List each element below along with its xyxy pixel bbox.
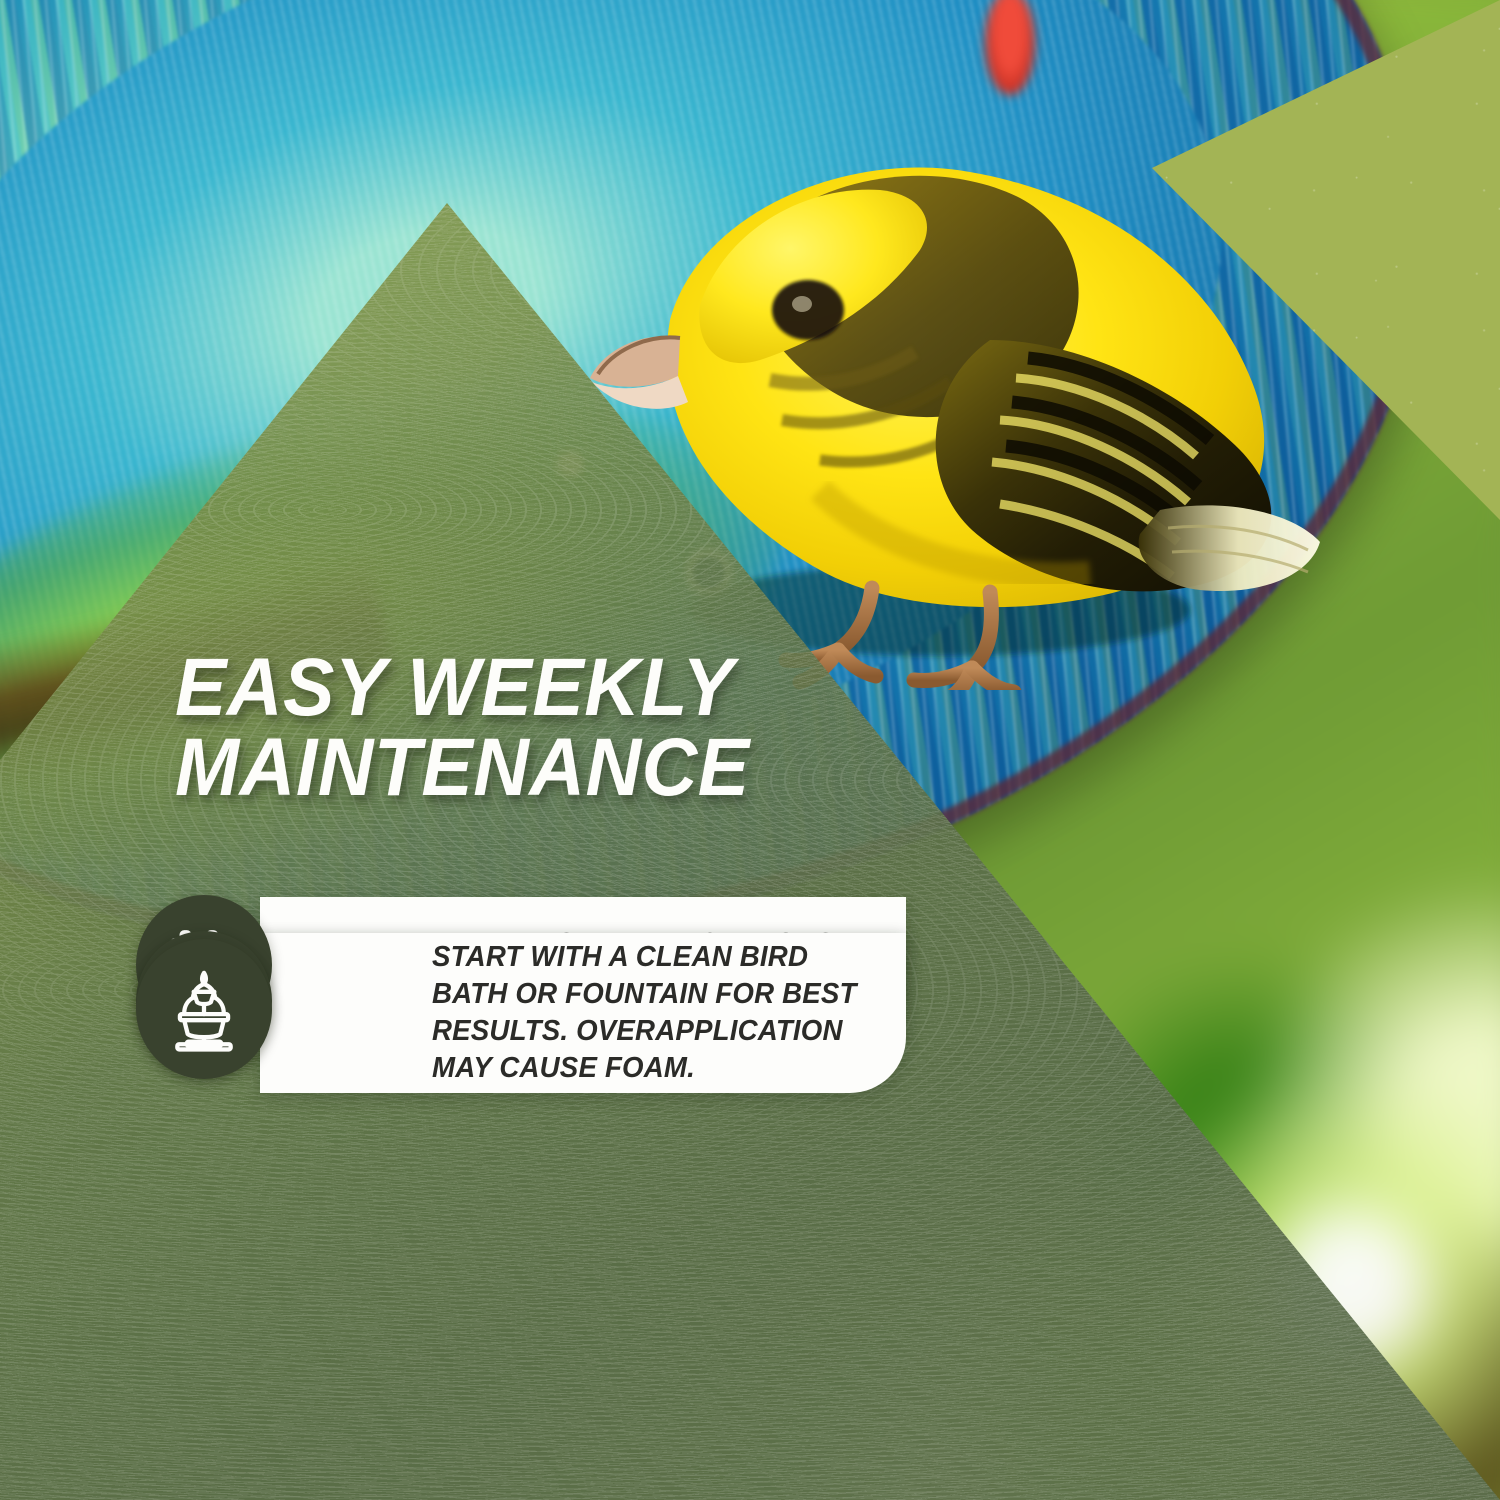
headline-line-1: EASY WEEKLY	[175, 648, 927, 728]
page-title: EASY WEEKLY MAINTENANCE	[175, 648, 927, 807]
step-3-text: START WITH A CLEAN BIRD BATH OR FOUNTAIN…	[432, 939, 859, 1087]
step-3-badge	[136, 939, 272, 1079]
steps-list: APPLY 1 OZ. PER 5 GALLONS OF WATER WEEKL…	[136, 897, 896, 933]
headline-line-2: MAINTENANCE	[175, 728, 927, 808]
step-3-pill: START WITH A CLEAN BIRD BATH OR FOUNTAIN…	[260, 933, 906, 1093]
infographic-canvas: EASY WEEKLY MAINTENANCE APPLY 1 OZ. PER …	[0, 0, 1500, 1500]
fountain-icon	[161, 966, 247, 1052]
